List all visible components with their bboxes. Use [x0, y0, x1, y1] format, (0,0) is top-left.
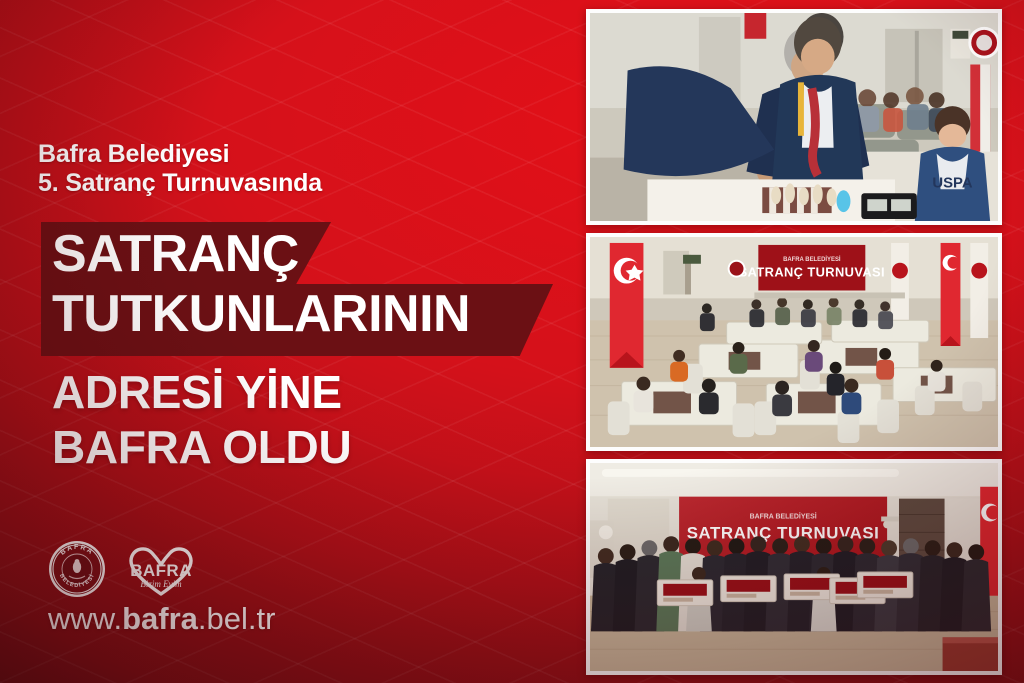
text-column: Bafra Belediyesi 5. Satranç Turnuvasında…	[0, 0, 586, 683]
heart-logo-title: BAFRA	[130, 561, 192, 580]
photo-mayor-watching-child-play-chess: USPA	[586, 9, 1002, 225]
photo-2-stage-banner-line-1: BAFRA BELEDİYESİ	[783, 256, 841, 263]
url-name: bafra	[122, 601, 198, 636]
headline-sub-text: ADRESİ YİNE BAFRA OLDU	[52, 365, 572, 475]
svg-text:USPA: USPA	[932, 175, 972, 191]
headline-line-2: TUTKUNLARININ	[52, 284, 572, 344]
photo-1-image: USPA	[590, 13, 998, 221]
photo-tournament-hall-wide-view: BAFRA BELEDİYESİ SATRANÇ TURNUVASI	[586, 233, 1002, 451]
kicker-text: Bafra Belediyesi 5. Satranç Turnuvasında	[38, 140, 558, 198]
photo-2-image: BAFRA BELEDİYESİ SATRANÇ TURNUVASI	[590, 237, 998, 447]
kicker-line-1: Bafra Belediyesi	[38, 140, 558, 169]
photo-award-ceremony-group: BAFRA BELEDİYESİ SATRANÇ TURNUVASI	[586, 459, 1002, 675]
logo-row: BAFRA BELEDİYESİ BAFRA Bizim Evim	[48, 540, 200, 598]
bafra-belediyesi-seal-logo: BAFRA BELEDİYESİ	[48, 540, 106, 598]
poster-canvas: Bafra Belediyesi 5. Satranç Turnuvasında…	[0, 0, 1024, 683]
photo-3-stage-banner-line-1: BAFRA BELEDİYESİ	[750, 511, 817, 520]
kicker-line-2: 5. Satranç Turnuvasında	[38, 169, 558, 198]
headline-banner-text: SATRANÇ TUTKUNLARININ	[52, 224, 572, 344]
url-suffix: .bel.tr	[198, 601, 276, 636]
seal-icon: BAFRA BELEDİYESİ	[48, 540, 106, 598]
photo-column: USPA	[586, 9, 1002, 675]
photo-2-stage-banner-line-2: SATRANÇ TURNUVASI	[739, 265, 885, 280]
website-url[interactable]: www.bafra.bel.tr	[48, 600, 275, 638]
headline-sub-line-1: ADRESİ YİNE	[52, 365, 572, 420]
heart-logo-script: Bizim Evim	[140, 579, 182, 589]
bafra-heart-logo: BAFRA Bizim Evim	[122, 540, 200, 598]
photo-3-image: BAFRA BELEDİYESİ SATRANÇ TURNUVASI	[590, 463, 998, 671]
url-prefix: www.	[48, 601, 122, 636]
heart-icon: BAFRA Bizim Evim	[122, 540, 200, 598]
headline-line-1: SATRANÇ	[52, 224, 572, 284]
headline-sub-line-2: BAFRA OLDU	[52, 420, 572, 475]
